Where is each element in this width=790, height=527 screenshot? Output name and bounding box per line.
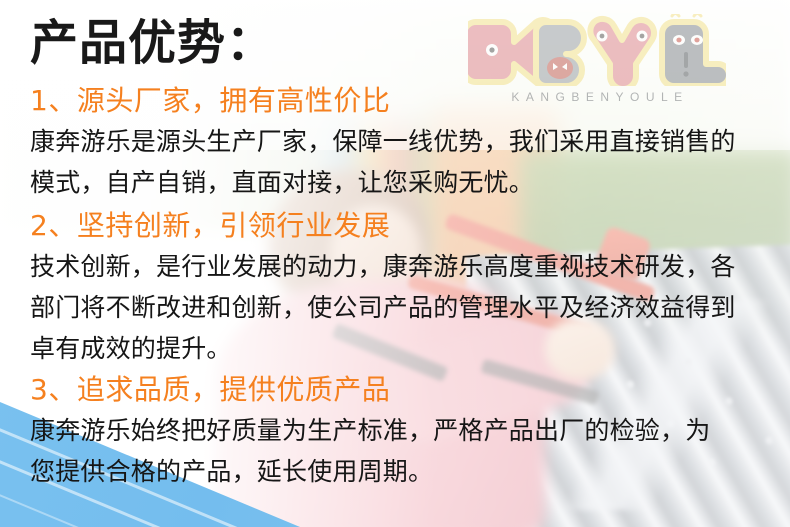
content-area: 产品优势： 1、源头厂家，拥有高性价比 康奔游乐是源头生产厂家，保障一线优势，我… <box>0 0 790 527</box>
advantage-2-line-1: 技术创新，是行业发展的动力，康奔游乐高度重视技术研发，各 <box>30 246 770 287</box>
advantage-1-body: 康奔游乐是源头生产厂家，保障一线优势，我们采用直接销售的 模式，自产自销，直面对… <box>30 121 770 203</box>
advantage-section-3: 3、追求品质，提供优质产品 康奔游乐始终把好质量为生产标准，严格产品出厂的检验，… <box>30 372 770 492</box>
advantage-1-line-2: 模式，自产自销，直面对接，让您采购无忧。 <box>30 162 770 203</box>
advantage-2-line-2: 部门将不断改进和创新，使公司产品的管理水平及经济效益得到 <box>30 287 770 328</box>
advantage-2-line-3: 卓有成效的提升。 <box>30 328 770 369</box>
advantage-section-2: 2、坚持创新，引领行业发展 技术创新，是行业发展的动力，康奔游乐高度重视技术研发… <box>30 208 770 369</box>
advantage-1-line-1: 康奔游乐是源头生产厂家，保障一线优势，我们采用直接销售的 <box>30 121 770 162</box>
advantage-section-1: 1、源头厂家，拥有高性价比 康奔游乐是源头生产厂家，保障一线优势，我们采用直接销… <box>30 83 770 203</box>
product-advantages-banner: KANGBENYOULE 产品优势： 1、源头厂家，拥有高性价比 康奔游乐是源头… <box>0 0 790 527</box>
advantage-3-body: 康奔游乐始终把好质量为生产标准，严格产品出厂的检验，为 您提供合格的产品，延长使… <box>30 410 770 492</box>
advantage-2-body: 技术创新，是行业发展的动力，康奔游乐高度重视技术研发，各 部门将不断改进和创新，… <box>30 246 770 369</box>
advantage-2-heading: 2、坚持创新，引领行业发展 <box>30 208 770 244</box>
advantage-3-heading: 3、追求品质，提供优质产品 <box>30 372 770 408</box>
page-title: 产品优势： <box>30 18 275 68</box>
advantage-3-line-1: 康奔游乐始终把好质量为生产标准，严格产品出厂的检验，为 <box>30 410 770 451</box>
advantage-3-line-2: 您提供合格的产品，延长使用周期。 <box>30 451 770 492</box>
advantage-1-heading: 1、源头厂家，拥有高性价比 <box>30 83 770 119</box>
